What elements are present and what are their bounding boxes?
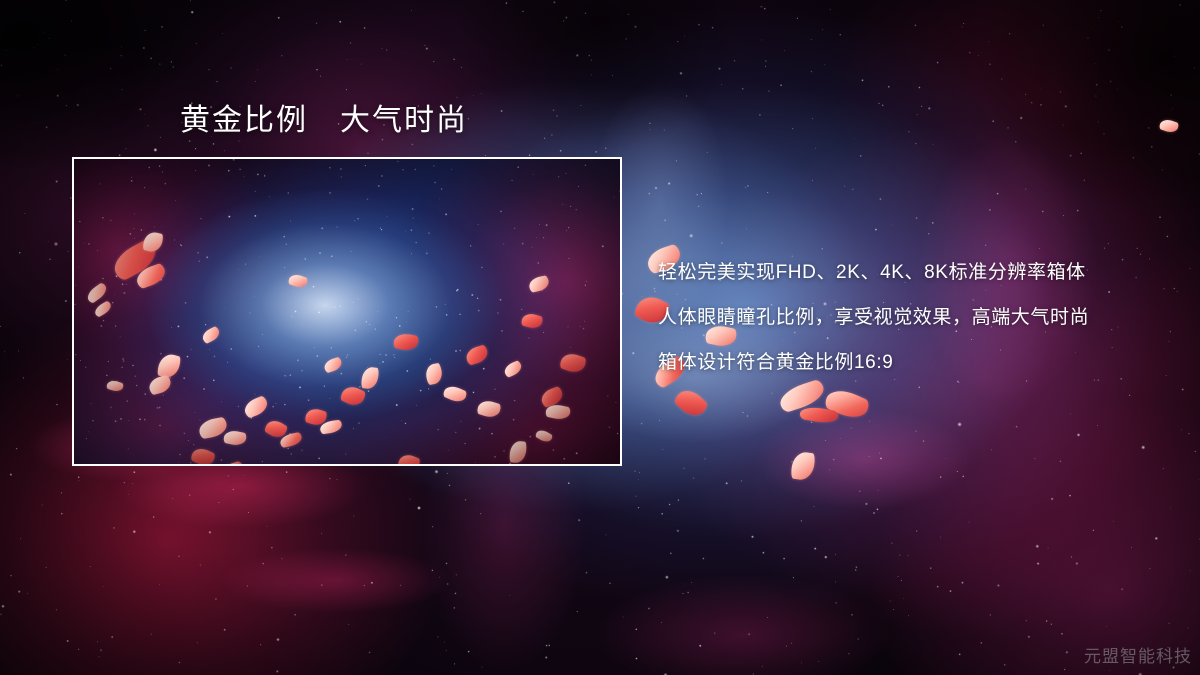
company-watermark: 元盟智能科技 [1084,642,1192,667]
petal-shape [1158,117,1179,134]
petal-shape [673,385,710,422]
presentation-slide: 黄金比例 大气时尚 轻松完美实现FHD、2K、4K、8K标准分辨率箱体 人体眼睛… [0,0,1200,675]
petal-shape [799,405,839,425]
petal-shape [823,384,871,423]
description-line-3: 箱体设计符合黄金比例16:9 [658,340,1158,385]
description-line-2: 人体眼睛瞳孔比例，享受视觉效果，高端大气时尚 [658,295,1158,340]
description-line-1: 轻松完美实现FHD、2K、4K、8K标准分辨率箱体 [658,250,1158,295]
petal-shape [790,451,816,482]
panel-vignette [74,159,620,464]
slide-title: 黄金比例 大气时尚 [180,104,468,138]
feature-description-block: 轻松完美实现FHD、2K、4K、8K标准分辨率箱体 人体眼睛瞳孔比例，享受视觉效… [658,250,1158,385]
golden-ratio-preview-panel[interactable] [72,157,622,466]
